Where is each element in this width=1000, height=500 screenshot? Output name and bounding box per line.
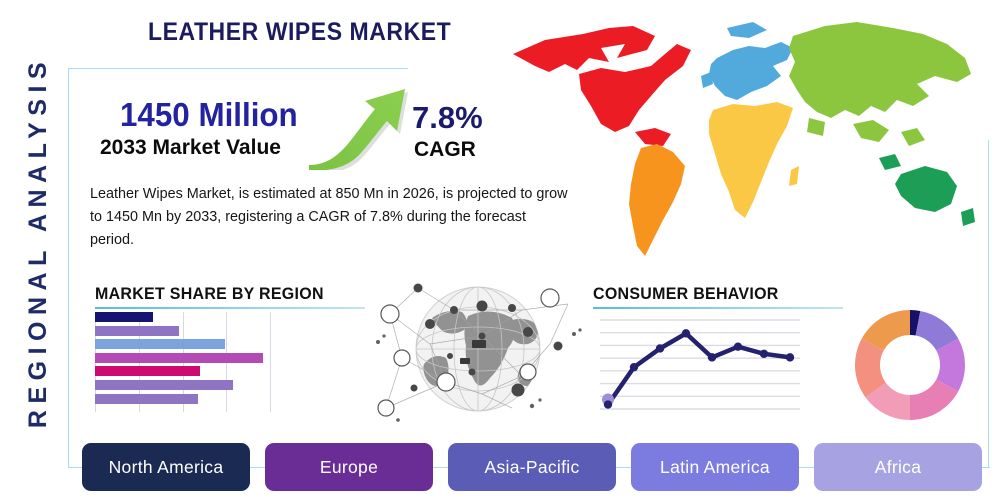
line-chart-marker <box>682 329 690 337</box>
bar-chart-gridline <box>270 312 271 412</box>
world-map <box>505 14 985 266</box>
map-region-south-america <box>629 144 685 256</box>
bar-chart-bar <box>95 312 153 322</box>
cagr-figure: 7.8% <box>412 100 483 136</box>
consumer-behavior-line-chart <box>600 312 800 417</box>
segment-donut-chart <box>852 307 968 423</box>
line-chart-marker <box>734 343 742 351</box>
market-value-caption: 2033 Market Value <box>100 136 281 160</box>
line-chart-marker <box>786 353 794 361</box>
region-button-north-america[interactable]: North America <box>82 443 250 491</box>
section-heading-market-share: MARKET SHARE BY REGION <box>95 284 324 304</box>
side-label-regional-analysis: REGIONAL ANALYSIS <box>18 52 58 432</box>
line-chart-marker <box>656 344 664 352</box>
line-chart-marker <box>708 353 716 361</box>
section-rule-market-share <box>95 307 365 309</box>
bar-chart-bar <box>95 394 198 404</box>
region-button-europe[interactable]: Europe <box>265 443 433 491</box>
market-value-figure: 1450 Million <box>120 96 298 134</box>
map-region-north-america <box>513 26 691 146</box>
content-frame-right-edge <box>988 140 989 468</box>
map-region-europe <box>701 22 793 100</box>
section-heading-consumer-behavior: CONSUMER BEHAVIOR <box>593 284 779 304</box>
section-rule-consumer-behavior <box>593 307 843 309</box>
content-frame-top-edge <box>68 68 408 69</box>
map-region-oceania <box>879 154 975 226</box>
cagr-caption: CAGR <box>414 138 476 162</box>
region-button-asia-pacific[interactable]: Asia-Pacific <box>448 443 616 491</box>
bar-chart-bar <box>95 339 225 349</box>
region-button-africa[interactable]: Africa <box>814 443 982 491</box>
map-region-africa <box>709 102 799 218</box>
bar-chart-bar <box>95 380 233 390</box>
region-button-bar: North AmericaEuropeAsia-PacificLatin Ame… <box>82 443 982 491</box>
line-chart-marker <box>604 400 612 408</box>
line-chart-marker <box>630 363 638 371</box>
growth-arrow-icon <box>306 86 410 170</box>
bar-chart-bar <box>95 353 263 363</box>
page-title: LEATHER WIPES MARKET <box>148 18 451 47</box>
infographic-root: REGIONAL ANALYSIS LEATHER WIPES MARKET 1… <box>0 0 1000 500</box>
global-network-globe-icon <box>372 272 584 427</box>
market-description: Leather Wipes Market, is estimated at 85… <box>90 183 570 252</box>
bar-chart-bar <box>95 326 179 336</box>
map-region-asia <box>789 22 971 146</box>
bar-chart-bar <box>95 366 200 376</box>
region-button-latin-america[interactable]: Latin America <box>631 443 799 491</box>
market-share-bar-chart <box>95 312 270 412</box>
line-chart-marker <box>760 350 768 358</box>
